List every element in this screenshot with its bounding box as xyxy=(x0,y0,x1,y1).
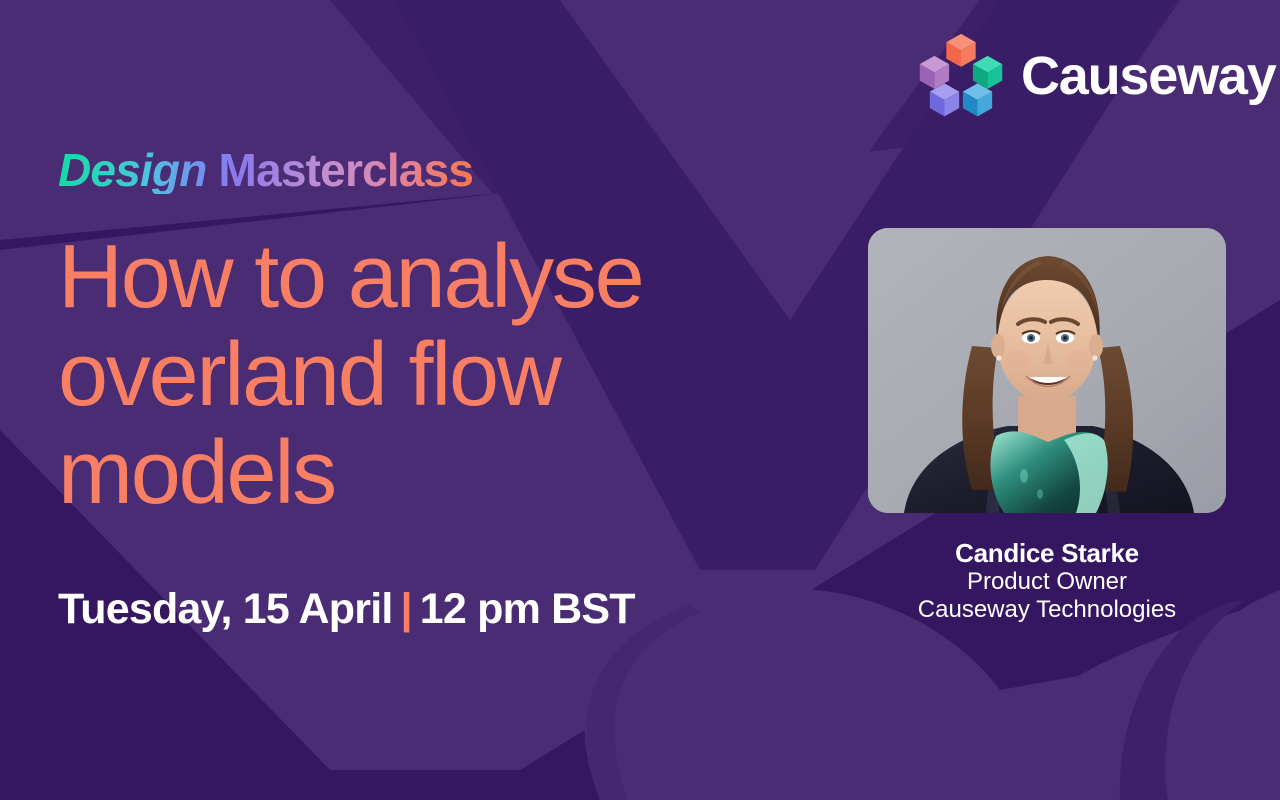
speaker-name: Candice Starke xyxy=(868,538,1226,568)
kicker-italic-word: Design xyxy=(58,144,207,196)
kicker-roman-word: Masterclass xyxy=(207,144,474,196)
brand-wordmark: Causeway xyxy=(1021,49,1276,103)
bg-shape-bottom-right xyxy=(1000,640,1280,800)
causeway-cubes-icon xyxy=(915,32,1007,120)
bg-shape-bottom-right-sweep xyxy=(940,600,1280,800)
datetime-separator: | xyxy=(393,585,420,633)
speaker-headshot-illustration xyxy=(868,228,1226,513)
page-title: How to analyse overland flow models xyxy=(58,228,818,522)
cube-top xyxy=(946,34,975,67)
speaker-role: Product Owner xyxy=(868,568,1226,596)
brand-logo[interactable]: Causeway xyxy=(915,32,1276,120)
event-time: 12 pm BST xyxy=(420,585,635,633)
event-date: Tuesday, 15 April xyxy=(58,585,393,633)
speaker-organisation: Causeway Technologies xyxy=(868,596,1226,624)
bg-shape-blob-edge xyxy=(586,605,700,800)
speaker-details: Candice Starke Product Owner Causeway Te… xyxy=(868,538,1226,625)
kicker-line: Design Masterclass xyxy=(58,146,473,194)
promo-banner: Causeway Design Masterclass How to analy… xyxy=(0,0,1280,800)
event-datetime: Tuesday, 15 April|12 pm BST xyxy=(58,585,635,634)
bg-shape-notch-dark xyxy=(1120,600,1245,800)
speaker-photo xyxy=(868,228,1226,513)
